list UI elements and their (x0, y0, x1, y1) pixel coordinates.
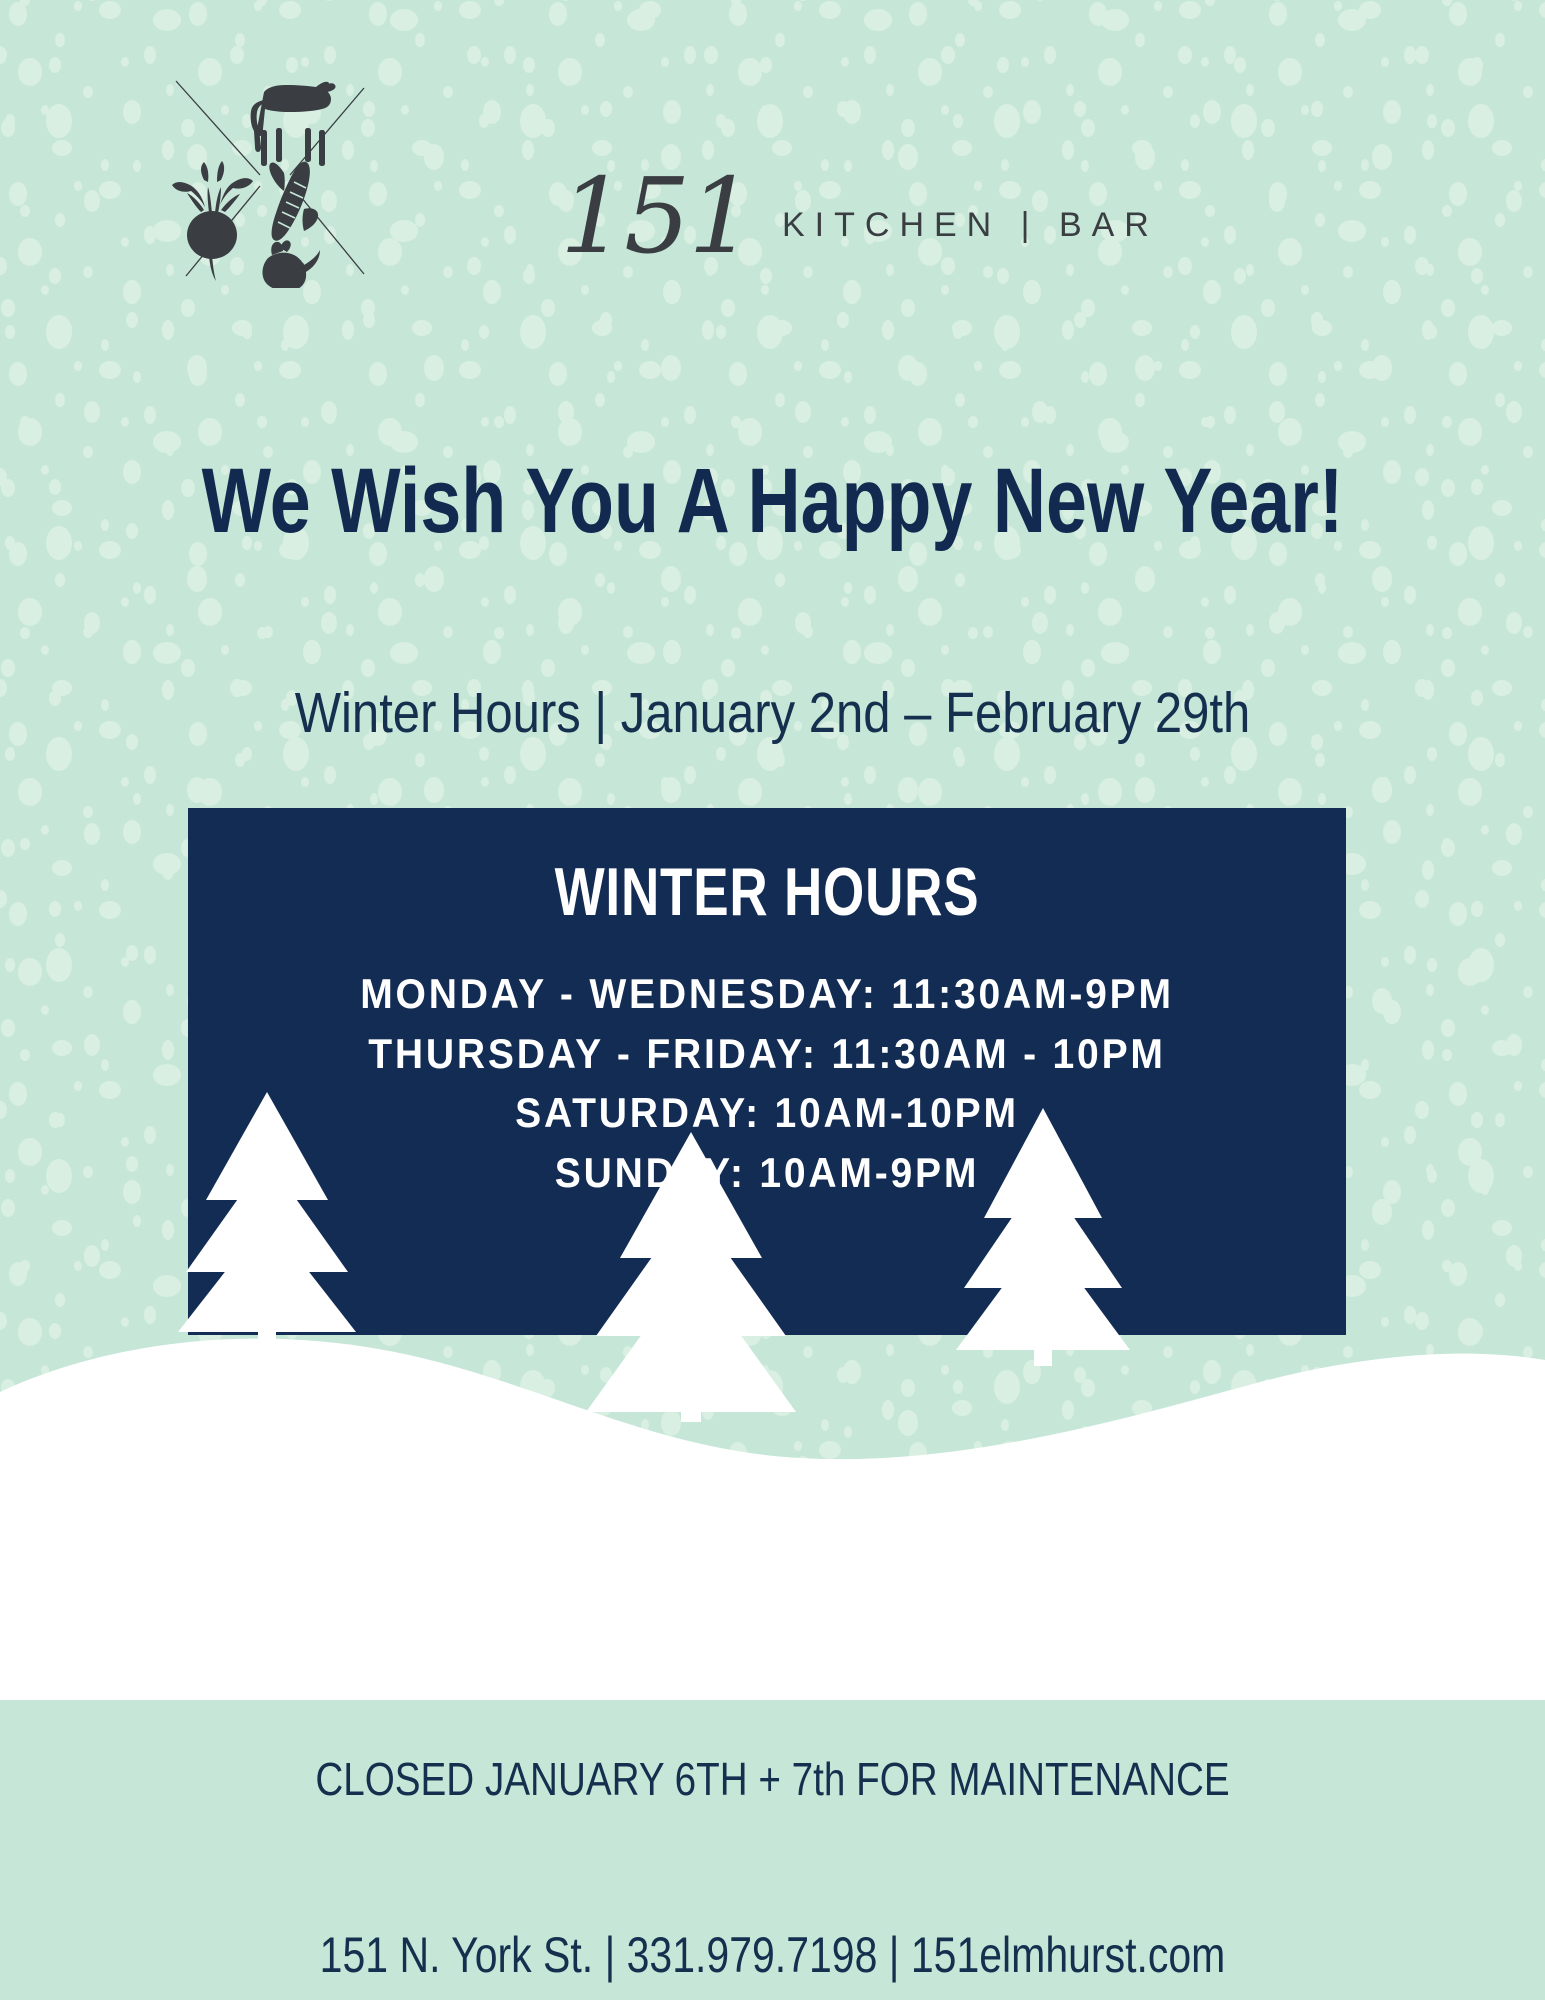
beet-icon (172, 161, 253, 281)
snow-hill (0, 1339, 1545, 1700)
winter-hours-list: MONDAY - WEDNESDAY: 11:30AM-9PM THURSDAY… (188, 964, 1346, 1203)
corn-icon (269, 162, 318, 241)
closed-notice: CLOSED JANUARY 6TH + 7th FOR MAINTENANCE (124, 1752, 1422, 1806)
brand-wordmark: 151 KITCHEN | BAR (560, 176, 1200, 286)
hours-row: THURSDAY - FRIDAY: 11:30AM - 10PM (229, 1024, 1306, 1084)
hours-row: SUNDAY: 10AM-9PM (229, 1143, 1306, 1203)
winter-hours-heading: WINTER HOURS (315, 858, 1218, 926)
date-range-subtitle: Winter Hours | January 2nd – February 29… (108, 680, 1437, 746)
cow-icon (251, 82, 336, 166)
hours-row: SATURDAY: 10AM-10PM (229, 1083, 1306, 1143)
page-title: We Wish You A Happy New Year! (155, 455, 1391, 547)
brand-logo: 151 KITCHEN | BAR (168, 58, 1028, 288)
flyer-canvas: 151 KITCHEN | BAR We Wish You A Happy Ne… (0, 0, 1545, 2000)
logo-mark-icons (168, 58, 383, 288)
logo-number: 151 (560, 164, 753, 268)
contact-footer: 151 N. York St. | 331.979.7198 | 151elmh… (139, 1926, 1406, 1984)
logo-tagline: KITCHEN | BAR (782, 206, 1159, 245)
winter-hours-panel: WINTER HOURS MONDAY - WEDNESDAY: 11:30AM… (188, 808, 1346, 1335)
chicken-icon (262, 240, 320, 288)
hours-row: MONDAY - WEDNESDAY: 11:30AM-9PM (229, 964, 1306, 1024)
